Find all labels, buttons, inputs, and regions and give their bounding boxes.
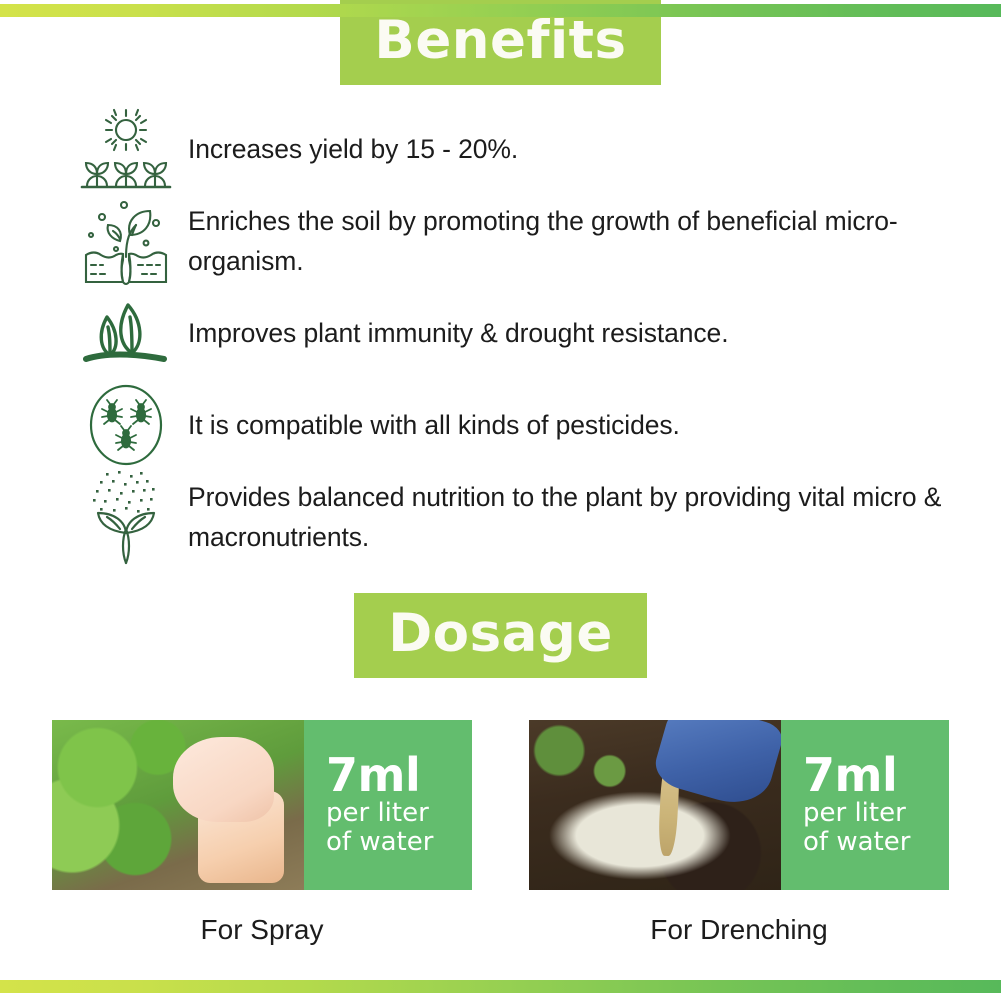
list-item: Improves plant immunity & drought resist… bbox=[0, 287, 1001, 379]
list-item: It is compatible with all kinds of pesti… bbox=[0, 379, 1001, 471]
dosage-caption: For Drenching bbox=[529, 914, 949, 946]
list-item: Provides balanced nutrition to the plant… bbox=[0, 471, 1001, 563]
dosage-card-drenching: 7ml per liter of water For Drenching bbox=[529, 720, 949, 946]
two-leaves-icon bbox=[78, 287, 174, 379]
dose-line-1: per liter bbox=[326, 799, 472, 829]
bottom-gradient-strip bbox=[0, 980, 1001, 993]
insects-in-circle-icon bbox=[78, 379, 174, 471]
top-gradient-strip bbox=[0, 4, 1001, 17]
dosage-panel: 7ml per liter of water bbox=[529, 720, 949, 890]
dosage-cards: 7ml per liter of water For Spray 7ml per… bbox=[0, 720, 1001, 946]
benefit-text: Provides balanced nutrition to the plant… bbox=[174, 477, 981, 558]
benefit-text: Enriches the soil by promoting the growt… bbox=[174, 201, 981, 282]
dose-line-2: of water bbox=[803, 828, 949, 858]
benefit-text: Increases yield by 15 - 20%. bbox=[174, 129, 518, 169]
benefit-text: Improves plant immunity & drought resist… bbox=[174, 313, 728, 353]
dosage-info: 7ml per liter of water bbox=[304, 720, 472, 890]
sprout-with-nutrients-icon bbox=[78, 471, 174, 563]
list-item: Enriches the soil by promoting the growt… bbox=[0, 195, 1001, 287]
dosage-caption: For Spray bbox=[52, 914, 472, 946]
watering-can-drenching-soil-photo bbox=[529, 720, 781, 890]
sun-over-seedlings-icon bbox=[78, 103, 174, 195]
dose-amount: 7ml bbox=[803, 752, 949, 799]
benefits-list: Increases yield by 15 - 20%. bbox=[0, 103, 1001, 563]
dosage-banner-wrap: Dosage bbox=[0, 593, 1001, 678]
dose-line-2: of water bbox=[326, 828, 472, 858]
benefit-text: It is compatible with all kinds of pesti… bbox=[174, 405, 680, 445]
dosage-panel: 7ml per liter of water bbox=[52, 720, 472, 890]
plant-in-soil-icon bbox=[78, 195, 174, 287]
dose-line-1: per liter bbox=[803, 799, 949, 829]
dosage-heading: Dosage bbox=[354, 593, 647, 678]
dose-amount: 7ml bbox=[326, 752, 472, 799]
list-item: Increases yield by 15 - 20%. bbox=[0, 103, 1001, 195]
dosage-info: 7ml per liter of water bbox=[781, 720, 949, 890]
hand-shape bbox=[173, 737, 274, 822]
hand-spraying-plants-photo bbox=[52, 720, 304, 890]
dosage-card-spray: 7ml per liter of water For Spray bbox=[52, 720, 472, 946]
